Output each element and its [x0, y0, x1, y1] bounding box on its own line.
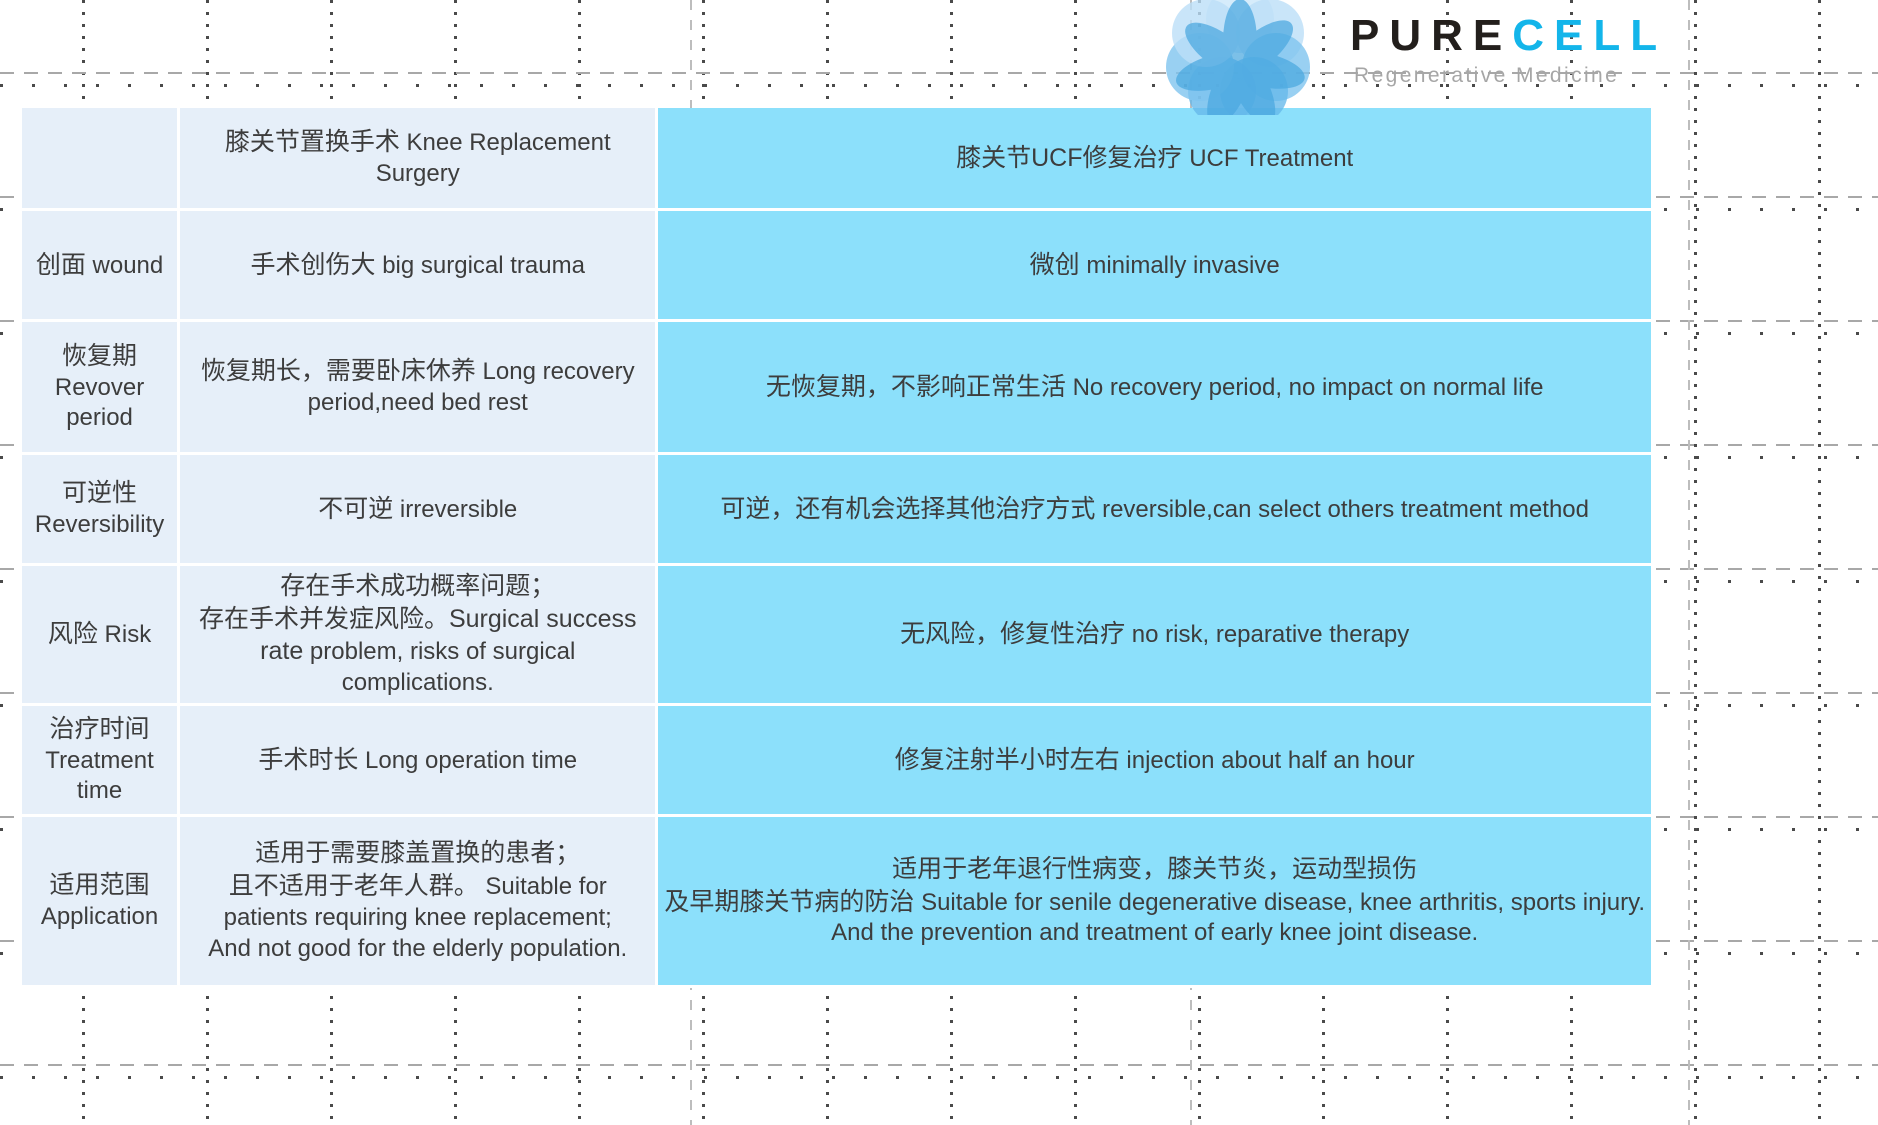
row-right-en: no risk, reparative therapy [1132, 621, 1409, 648]
header-label-cell [22, 108, 180, 211]
header-left-cell: 膝关节置换手术 Knee Replacement Surgery [180, 108, 658, 211]
row-right-cell: 可逆，还有机会选择其他治疗方式 reversible,can select ot… [658, 455, 1654, 566]
header-right-cell: 膝关节UCF修复治疗 UCF Treatment [658, 108, 1654, 211]
table-row: 治疗时间 Treatment time 手术时长 Long operation … [22, 706, 1654, 817]
brand-tagline: Regenerative Medicine [1350, 64, 1870, 88]
table-row: 风险 Risk 存在手术成功概率问题； 存在手术并发症风险。Surgical s… [22, 566, 1654, 706]
row-right-cell: 无风险，修复性治疗 no risk, reparative therapy [658, 566, 1654, 706]
row-label-en: Risk [105, 621, 152, 648]
row-right-en: reversible,can select others treatment m… [1102, 496, 1589, 523]
brand-logo: PURECELL Regenerative Medicine [1160, 0, 1878, 105]
row-left-cell: 适用于需要膝盖置换的患者； 且不适用于老年人群。 Suitable for pa… [180, 817, 658, 988]
table-row: 适用范围 Application 适用于需要膝盖置换的患者； 且不适用于老年人群… [22, 817, 1654, 988]
row-label-cell: 风险 Risk [22, 566, 180, 706]
grid-horizontal-dotted-line [0, 1076, 1878, 1079]
row-right-cn: 修复注射半小时左右 [895, 746, 1120, 774]
row-label-cn: 创面 [36, 251, 86, 279]
row-label-cn: 可逆性 [62, 479, 137, 507]
table-row: 恢复期 Revover period 恢复期长，需要卧床休养 Long reco… [22, 322, 1654, 455]
row-right-cn: 可逆，还有机会选择其他治疗方式 [720, 495, 1095, 523]
row-left-en: Long operation time [365, 747, 577, 774]
row-left-cn: 不可逆 [318, 495, 393, 523]
row-label-cn: 治疗时间 [50, 715, 150, 743]
row-label-cell: 可逆性 Reversibility [22, 455, 180, 566]
row-right-cn: 无风险，修复性治疗 [900, 620, 1125, 648]
table-header-row: 膝关节置换手术 Knee Replacement Surgery 膝关节UCF修… [22, 108, 1654, 211]
row-label-cn: 风险 [48, 620, 98, 648]
row-left-cell: 存在手术成功概率问题； 存在手术并发症风险。Surgical success r… [180, 566, 658, 706]
grid-vertical-dotted-line [1694, 0, 1697, 1125]
row-label-en: wound [93, 252, 164, 279]
row-label-cell: 治疗时间 Treatment time [22, 706, 180, 817]
header-right-cn: 膝关节UCF修复治疗 [956, 144, 1182, 172]
table-body: 膝关节置换手术 Knee Replacement Surgery 膝关节UCF修… [22, 108, 1654, 988]
row-left-cn: 手术时长 [258, 746, 358, 774]
row-right-cn: 微创 [1030, 251, 1080, 279]
row-left-cn: 恢复期长，需要卧床休养 [201, 357, 476, 385]
row-label-en: Reversibility [35, 511, 164, 538]
comparison-table: 膝关节置换手术 Knee Replacement Surgery 膝关节UCF修… [22, 108, 1654, 988]
row-label-cell: 创面 wound [22, 211, 180, 322]
row-left-en: problem, risks of surgical complications… [310, 638, 575, 696]
row-label-cn: 适用范围 [50, 871, 150, 899]
row-right-en: No recovery period, no impact on normal … [1073, 374, 1544, 401]
row-left-cell: 不可逆 irreversible [180, 455, 658, 566]
row-label-cell: 适用范围 Application [22, 817, 180, 988]
wordmark-cell: CELL [1512, 11, 1667, 60]
row-left-cell: 手术时长 Long operation time [180, 706, 658, 817]
table-row: 可逆性 Reversibility 不可逆 irreversible 可逆，还有… [22, 455, 1654, 566]
row-label-en: Application [41, 903, 158, 930]
header-right-en: UCF Treatment [1189, 145, 1353, 172]
table-row: 创面 wound 手术创伤大 big surgical trauma 微创 mi… [22, 211, 1654, 322]
row-right-cn: 无恢复期，不影响正常生活 [766, 373, 1066, 401]
row-left-en: big surgical trauma [382, 252, 585, 279]
row-label-en: Revover period [55, 374, 144, 432]
row-label-cn: 恢复期 [62, 342, 137, 370]
header-left-en: Knee Replacement Surgery [376, 129, 611, 187]
row-right-en: Suitable for senile degenerative disease… [831, 889, 1645, 947]
row-left-en: irreversible [400, 496, 517, 523]
row-right-cell: 微创 minimally invasive [658, 211, 1654, 322]
grid-vertical-dotted-line [1818, 0, 1821, 1125]
row-right-en: minimally invasive [1086, 252, 1279, 279]
row-left-cn: 手术创伤大 [251, 251, 376, 279]
row-left-cell: 手术创伤大 big surgical trauma [180, 211, 658, 322]
flower-petal-logo-icon [1160, 0, 1320, 115]
row-label-cell: 恢复期 Revover period [22, 322, 180, 455]
wordmark-pure: PURE [1350, 11, 1512, 60]
row-right-cell: 修复注射半小时左右 injection about half an hour [658, 706, 1654, 817]
row-right-en: injection about half an hour [1126, 747, 1414, 774]
grid-vertical-dashed-rule [1688, 0, 1690, 1125]
header-left-cn: 膝关节置换手术 [225, 128, 400, 156]
row-right-cell: 适用于老年退行性病变，膝关节炎，运动型损伤 及早期膝关节病的防治 Suitabl… [658, 817, 1654, 988]
wordmark-line: PURECELL [1350, 14, 1870, 58]
grid-horizontal-dashed-rule [0, 1064, 1878, 1066]
row-label-en: Treatment time [45, 747, 153, 805]
row-left-cell: 恢复期长，需要卧床休养 Long recovery period,need be… [180, 322, 658, 455]
row-right-cell: 无恢复期，不影响正常生活 No recovery period, no impa… [658, 322, 1654, 455]
brand-wordmark: PURECELL Regenerative Medicine [1350, 14, 1870, 88]
